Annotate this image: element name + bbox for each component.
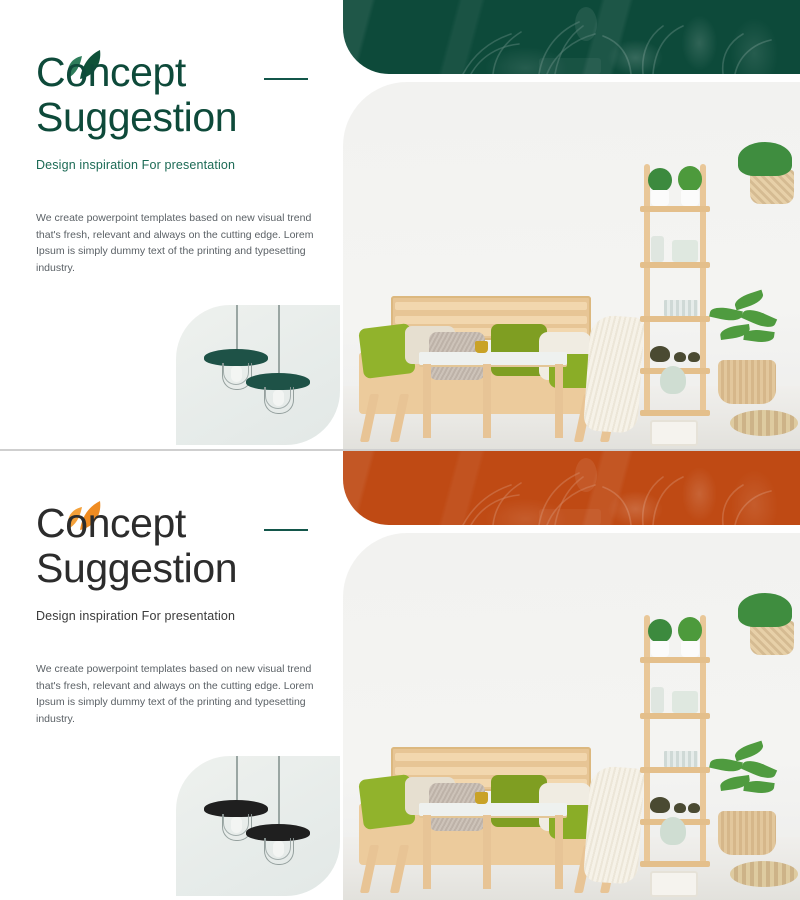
pendant-lamps-photo xyxy=(176,756,340,896)
slide-1[interactable]: Concept Suggestion Design inspiration Fo… xyxy=(0,0,800,450)
palm-frond xyxy=(743,779,774,795)
brass-mug xyxy=(475,341,488,353)
patterned-box xyxy=(672,240,698,262)
table-top xyxy=(419,352,567,365)
lamp-cord xyxy=(236,305,238,353)
coffee-table xyxy=(419,352,567,438)
glass-jar xyxy=(651,687,664,713)
shelf-board xyxy=(640,316,710,322)
palm-plant xyxy=(704,743,790,855)
lamp-cord xyxy=(236,756,238,804)
green-glass-vase xyxy=(660,366,686,394)
cup xyxy=(688,803,700,813)
shelf-board xyxy=(640,262,710,268)
pendant-lamps-photo xyxy=(176,305,340,445)
table-leg xyxy=(423,815,431,889)
hero-interior-photo xyxy=(343,533,800,900)
lamp-bulb xyxy=(231,817,242,833)
table-leg xyxy=(483,815,491,889)
top-color-band xyxy=(343,0,800,74)
ladder-shelf xyxy=(642,615,708,867)
plant-pot xyxy=(651,641,669,657)
knit-throw-blanket xyxy=(583,314,645,433)
stacked-books xyxy=(664,300,698,316)
lamp-cord xyxy=(278,756,280,828)
shelf-board xyxy=(640,713,710,719)
shelf-plant xyxy=(648,168,672,192)
brass-mug xyxy=(475,792,488,804)
table-leg xyxy=(555,364,563,438)
lamp-bulb xyxy=(231,366,242,382)
plant-pot xyxy=(651,190,669,206)
slide-deck: Concept Suggestion Design inspiration Fo… xyxy=(0,0,800,900)
shelf-board xyxy=(640,410,710,416)
title-block: Concept Suggestion xyxy=(36,501,326,591)
knit-throw-blanket xyxy=(583,765,645,884)
glass-jar xyxy=(651,236,664,262)
palm-frond xyxy=(743,328,774,344)
woven-planter xyxy=(718,811,776,855)
storage-basket xyxy=(650,420,698,446)
teapot xyxy=(650,346,670,362)
band-foliage-icon xyxy=(343,0,800,74)
patterned-box xyxy=(672,691,698,713)
title-line-2: Suggestion xyxy=(36,95,326,140)
title-line-1: Concept xyxy=(36,50,326,95)
teapot xyxy=(650,797,670,813)
shelf-board xyxy=(640,861,710,867)
table-top xyxy=(419,803,567,816)
shelf-plant xyxy=(678,166,702,192)
shelf-plant xyxy=(678,617,702,643)
palm-plant xyxy=(704,292,790,404)
storage-basket xyxy=(650,871,698,897)
title-line-1: Concept xyxy=(36,501,326,546)
body-paragraph: We create powerpoint templates based on … xyxy=(36,661,322,727)
lamp-bulb xyxy=(273,390,284,406)
text-column: Concept Suggestion Design inspiration Fo… xyxy=(36,501,326,727)
text-column: Concept Suggestion Design inspiration Fo… xyxy=(36,50,326,276)
ladder-shelf xyxy=(642,164,708,416)
title-dash-rule xyxy=(264,529,308,531)
cup xyxy=(674,352,686,362)
woven-pouf xyxy=(730,861,798,887)
shelf-plant xyxy=(648,619,672,643)
shelf-rail xyxy=(644,615,650,867)
slide-2[interactable]: Concept Suggestion Design inspiration Fo… xyxy=(0,450,800,900)
coffee-table xyxy=(419,803,567,889)
shelf-board xyxy=(640,657,710,663)
lamp-cord xyxy=(278,305,280,377)
subtitle: Design inspiration For presentation xyxy=(36,158,326,172)
cup xyxy=(688,352,700,362)
plant-pot xyxy=(681,190,699,206)
green-glass-vase xyxy=(660,817,686,845)
stacked-books xyxy=(664,751,698,767)
top-color-band xyxy=(343,451,800,525)
shelf-board xyxy=(640,206,710,212)
title-line-2: Suggestion xyxy=(36,546,326,591)
plant-pot xyxy=(681,641,699,657)
shelf-board xyxy=(640,767,710,773)
palm-frond xyxy=(733,290,765,311)
woven-planter xyxy=(718,360,776,404)
table-leg xyxy=(483,364,491,438)
band-foliage-icon xyxy=(343,451,800,525)
cup xyxy=(674,803,686,813)
lamp-bulb xyxy=(273,841,284,857)
woven-pouf xyxy=(730,410,798,436)
subtitle: Design inspiration For presentation xyxy=(36,609,326,623)
hanging-plant xyxy=(738,142,792,176)
hero-interior-photo xyxy=(343,82,800,450)
title-dash-rule xyxy=(264,78,308,80)
palm-frond xyxy=(733,741,765,762)
shelf-rail xyxy=(644,164,650,416)
table-leg xyxy=(423,364,431,438)
table-leg xyxy=(555,815,563,889)
hanging-plant xyxy=(738,593,792,627)
title-block: Concept Suggestion xyxy=(36,50,326,140)
body-paragraph: We create powerpoint templates based on … xyxy=(36,210,322,276)
